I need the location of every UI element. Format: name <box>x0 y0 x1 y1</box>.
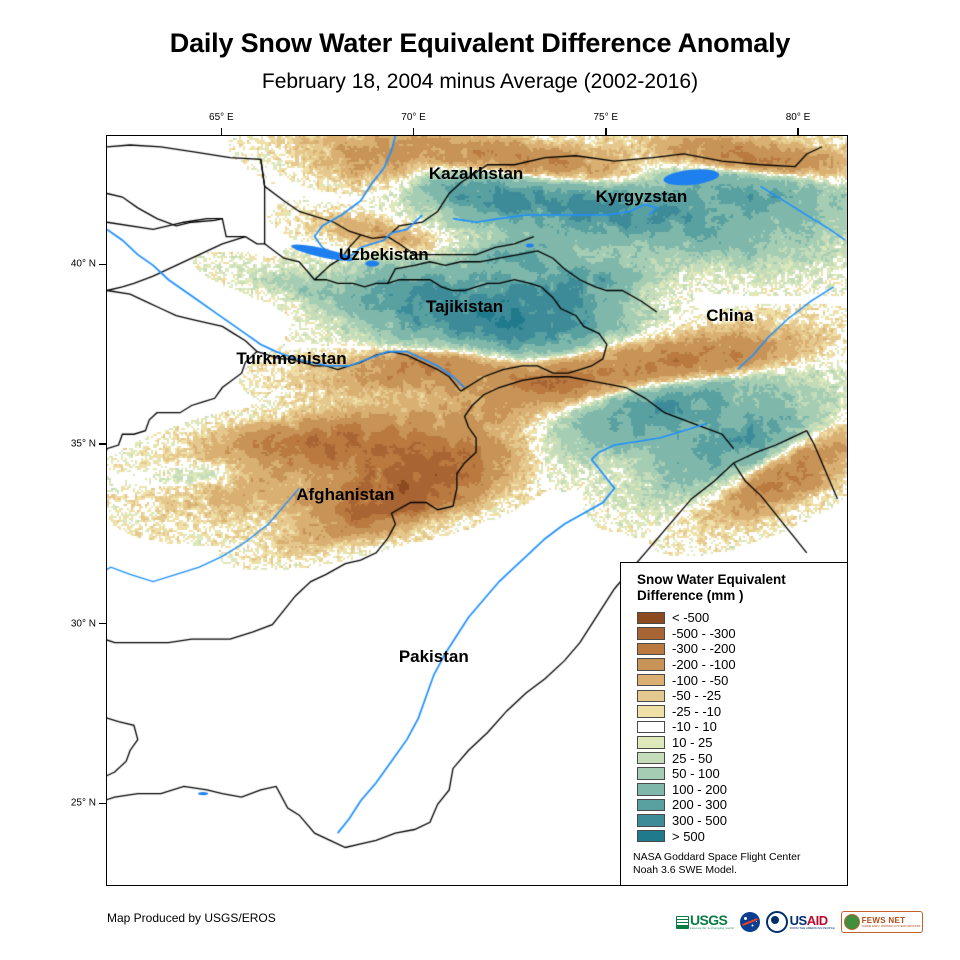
legend-swatch <box>637 658 665 671</box>
legend-label: -10 - 10 <box>672 720 717 733</box>
legend-row: 50 - 100 <box>637 766 837 782</box>
map-credit: Map Produced by USGS/EROS <box>107 911 276 925</box>
usaid-tagline: FROM THE AMERICAN PEOPLE <box>790 926 835 930</box>
nasa-logo <box>740 910 760 934</box>
lat-tick-mark <box>99 623 106 625</box>
lon-tick-mark <box>605 128 607 135</box>
legend-swatch <box>637 643 665 656</box>
lon-tick-label: 80° E <box>786 112 811 123</box>
legend-row: -300 - -200 <box>637 641 837 657</box>
usgs-tagline: science for a changing world <box>690 926 734 930</box>
legend-label: 100 - 200 <box>672 783 727 796</box>
legend-row: -50 - -25 <box>637 688 837 704</box>
legend-label: 25 - 50 <box>672 752 712 765</box>
legend-swatch <box>637 705 665 718</box>
legend-label: -500 - -300 <box>672 627 736 640</box>
legend-swatch <box>637 612 665 625</box>
legend-label: 50 - 100 <box>672 767 720 780</box>
legend-label: 200 - 300 <box>672 798 727 811</box>
legend-row: 25 - 50 <box>637 750 837 766</box>
legend-swatch <box>637 814 665 827</box>
lon-tick-label: 70° E <box>401 112 426 123</box>
legend-swatch <box>637 783 665 796</box>
legend-row: 100 - 200 <box>637 782 837 798</box>
legend-row: -100 - -50 <box>637 672 837 688</box>
usaid-logo: USAID FROM THE AMERICAN PEOPLE <box>766 910 835 934</box>
legend-label: -25 - -10 <box>672 705 721 718</box>
lat-tick-label: 30° N <box>48 618 96 629</box>
lat-tick-mark <box>99 264 106 266</box>
usgs-wordmark: USGS <box>690 914 734 926</box>
lon-tick-mark <box>221 128 223 135</box>
legend-title: Snow Water Equivalent Difference (mm ) <box>637 572 837 604</box>
fews-globe-icon <box>844 914 860 930</box>
credit-line-2: Noah 3.6 SWE Model. <box>633 864 837 877</box>
lon-tick-mark <box>797 128 799 135</box>
lon-tick-mark <box>413 128 415 135</box>
agency-logos: USGS science for a changing world USAID … <box>676 907 923 937</box>
legend-swatch <box>637 736 665 749</box>
legend-swatch <box>637 674 665 687</box>
legend-row: < -500 <box>637 610 837 626</box>
legend-swatch <box>637 752 665 765</box>
legend-label: > 500 <box>672 830 705 843</box>
legend-class-list: < -500-500 - -300-300 - -200-200 - -100-… <box>637 610 837 844</box>
fews-tagline: FAMINE EARLY WARNING SYSTEMS NETWORK <box>862 925 921 928</box>
legend-row: -25 - -10 <box>637 704 837 720</box>
legend-swatch <box>637 767 665 780</box>
legend-swatch <box>637 690 665 703</box>
lon-tick-label: 65° E <box>209 112 234 123</box>
lat-tick-mark <box>99 443 106 445</box>
legend-label: -50 - -25 <box>672 689 721 702</box>
legend-row: 10 - 25 <box>637 735 837 751</box>
usaid-seal-icon <box>766 911 788 933</box>
legend-label: -300 - -200 <box>672 642 736 655</box>
lat-tick-label: 35° N <box>48 439 96 450</box>
legend-label: 300 - 500 <box>672 814 727 827</box>
legend-label: -200 - -100 <box>672 658 736 671</box>
legend-label: 10 - 25 <box>672 736 712 749</box>
fews-net-logo: FEWS NET FAMINE EARLY WARNING SYSTEMS NE… <box>841 910 924 934</box>
lat-tick-label: 40° N <box>48 259 96 270</box>
legend-swatch <box>637 721 665 734</box>
usaid-wordmark: USAID <box>790 915 835 926</box>
legend-title-line2: Difference (mm ) <box>637 588 837 604</box>
legend-credit: NASA Goddard Space Flight Center Noah 3.… <box>633 851 837 877</box>
legend-swatch <box>637 799 665 812</box>
legend-panel: Snow Water Equivalent Difference (mm ) <… <box>620 562 848 886</box>
legend-row: -200 - -100 <box>637 657 837 673</box>
credit-line-1: NASA Goddard Space Flight Center <box>633 851 837 864</box>
usgs-logo: USGS science for a changing world <box>676 910 734 934</box>
lat-tick-mark <box>99 803 106 805</box>
lat-tick-label: 25° N <box>48 798 96 809</box>
legend-row: 200 - 300 <box>637 797 837 813</box>
legend-label: < -500 <box>672 611 709 624</box>
page-subtitle: February 18, 2004 minus Average (2002-20… <box>0 70 960 94</box>
fews-wordmark: FEWS NET <box>862 917 921 925</box>
lon-tick-label: 75° E <box>593 112 618 123</box>
legend-swatch <box>637 830 665 843</box>
legend-title-line1: Snow Water Equivalent <box>637 572 837 588</box>
legend-swatch <box>637 627 665 640</box>
nasa-meatball-icon <box>740 912 760 932</box>
legend-row: -10 - 10 <box>637 719 837 735</box>
legend-row: > 500 <box>637 828 837 844</box>
legend-label: -100 - -50 <box>672 674 728 687</box>
legend-row: -500 - -300 <box>637 626 837 642</box>
page-title: Daily Snow Water Equivalent Difference A… <box>0 28 960 59</box>
usgs-mark-icon <box>676 916 689 929</box>
legend-row: 300 - 500 <box>637 813 837 829</box>
